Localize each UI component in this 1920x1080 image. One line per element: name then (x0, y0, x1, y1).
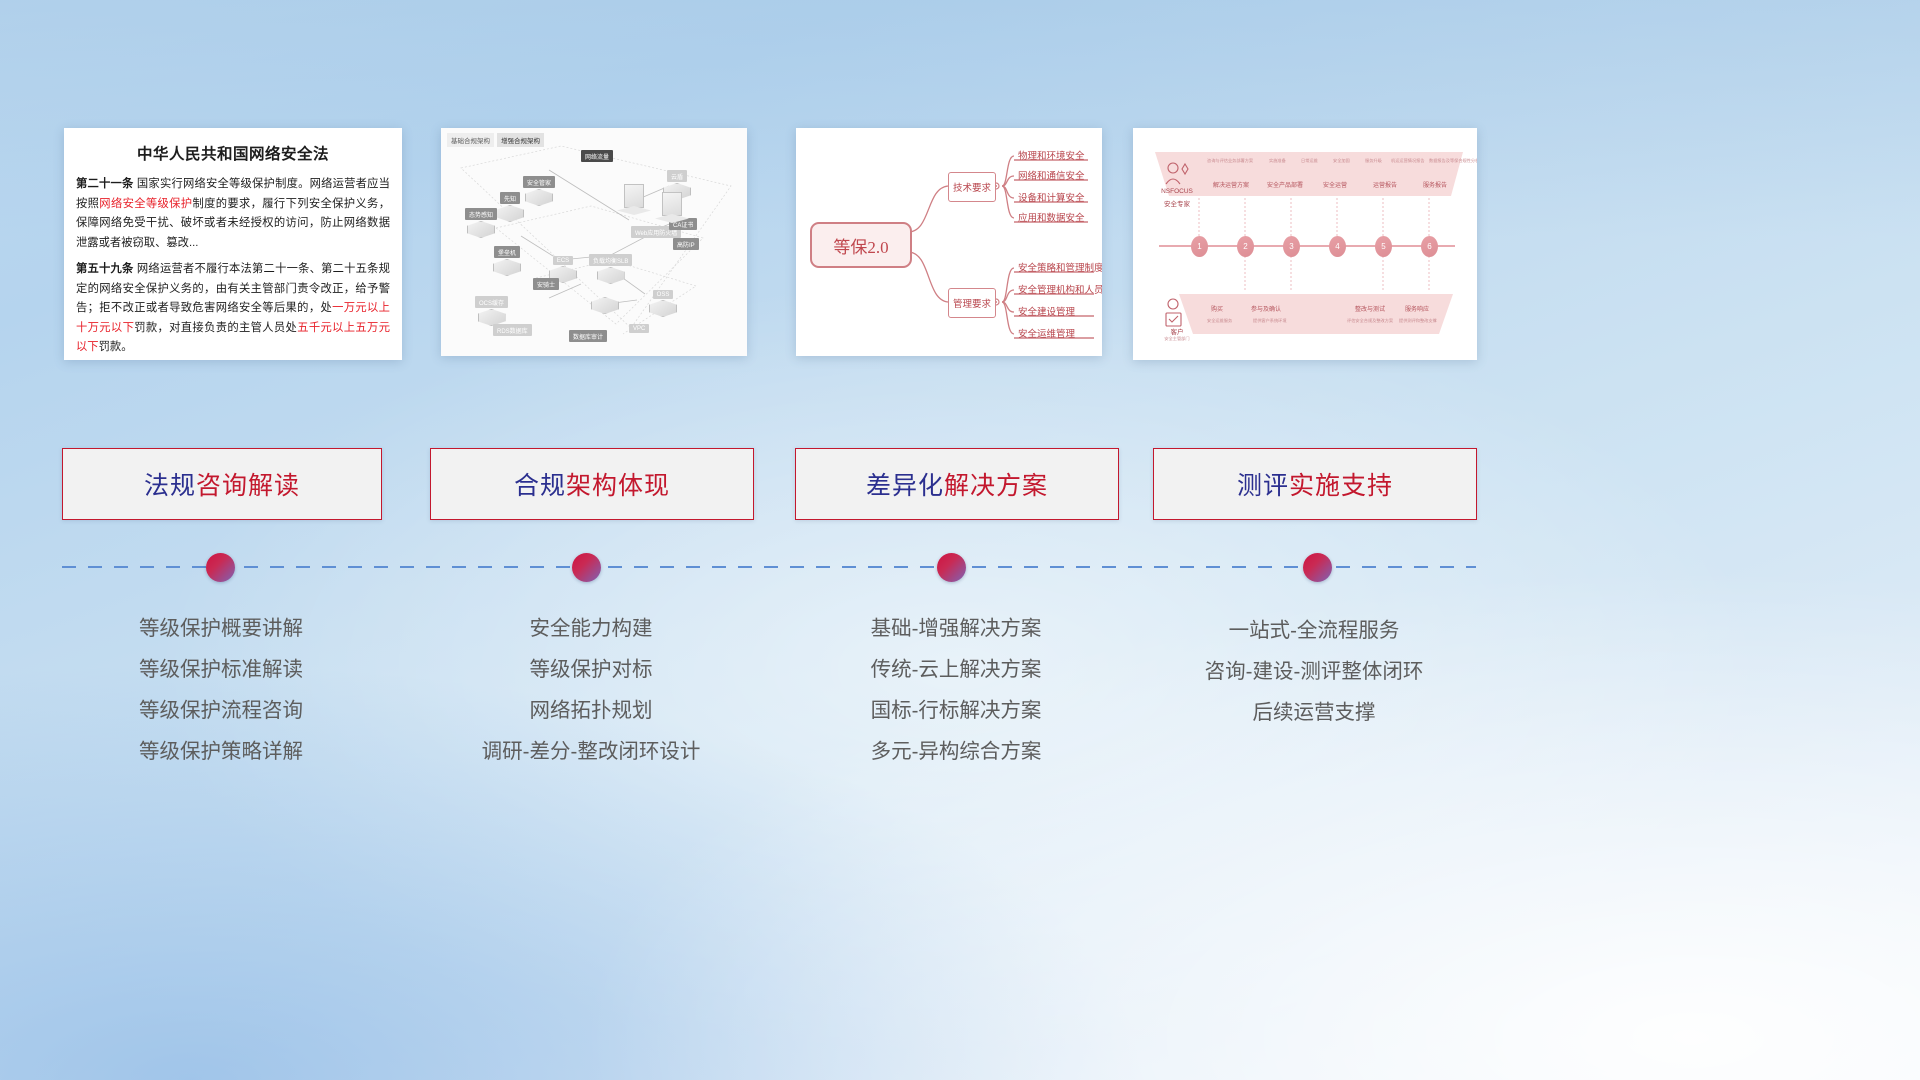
list-assessment-support: 一站式-全流程服务 咨询-建设-测评整体闭环 后续运营支撑 (1153, 610, 1475, 733)
timeline-bottom-step-1: 购买 (1211, 304, 1223, 313)
timeline-top-tiny-7: 数据报告及等保合规性分析与建议 (1429, 158, 1477, 164)
arch-cube-ecs-sg (591, 297, 619, 314)
timeline-number-4: 4 (1329, 236, 1346, 257)
list-item: 咨询-建设-测评整体闭环 (1153, 651, 1475, 692)
headline-1-accent: 咨询解读 (196, 472, 300, 500)
law-article-59-text-c: 罚款。 (99, 341, 133, 353)
arch-chip-anti-ddos: 高防IP (673, 238, 699, 250)
list-item: 等级保护概要讲解 (62, 608, 380, 649)
timeline-top-tiny-4: 安全加固 (1333, 158, 1350, 164)
arch-node-ocs-cache: OCS缓存 (475, 296, 508, 326)
slide-stage: 中华人民共和国网络安全法 第二十一条 国家实行网络安全等级保护制度。网络运营者应… (0, 0, 1920, 1080)
arch-chip-anqishi: 安骑士 (533, 278, 559, 290)
timeline-dot-4 (1303, 553, 1332, 582)
timeline-expert-role: 安全专家 (1155, 198, 1199, 208)
headline-text-2: 合规架构体现 (514, 466, 670, 502)
headline-box-assessment-support[interactable]: 测评实施支持 (1153, 448, 1477, 520)
timeline-top-tiny-5: 服务升级 (1365, 158, 1382, 164)
headline-box-regulation-consulting[interactable]: 法规咨询解读 (62, 448, 382, 520)
arch-server-network-protection (624, 184, 644, 208)
headline-text-3: 差异化解决方案 (866, 466, 1048, 502)
mindmap-leaf-physical-env: 物理和环境安全 (1018, 148, 1085, 162)
timeline-expert-brand: NSFOCUS (1155, 188, 1199, 195)
arch-node-network-protection (617, 184, 651, 215)
card-compliance-architecture: 基础合规架构 增强合规架构 (441, 128, 747, 356)
headline-2-accent: 架构体现 (566, 472, 670, 500)
list-item: 等级保护流程咨询 (62, 690, 380, 731)
list-item: 网络拓扑规划 (430, 690, 752, 731)
headline-text-4: 测评实施支持 (1237, 466, 1393, 502)
timeline-top-step-3: 安全运营 (1323, 180, 1347, 189)
arch-node-ecs-sg (591, 296, 619, 314)
headline-1-prefix: 法规 (144, 472, 196, 500)
timeline-top-tiny-2: 实施准备 (1269, 158, 1286, 164)
arch-node-traffic: 网络流量 (581, 150, 613, 162)
law-article-59-text-b: 罚款，对直接负责的主管人员处 (134, 322, 297, 334)
list-item: 等级保护标准解读 (62, 649, 380, 690)
arch-chip-situation-awareness: 态势感知 (465, 208, 497, 220)
timeline-bottom-tiny-1: 安全运维服务 (1207, 318, 1232, 324)
arch-chip-xianzhi: 先知 (500, 192, 520, 204)
timeline-bottom-step-2: 参与及确认 (1251, 304, 1281, 313)
list-item: 后续运营支撑 (1153, 692, 1475, 733)
timeline-dot-1 (206, 553, 235, 582)
arch-cube-oss (649, 300, 677, 317)
arch-chip-ocs-cache: OCS缓存 (475, 296, 508, 308)
headline-box-differentiated-solution[interactable]: 差异化解决方案 (795, 448, 1119, 520)
arch-cube-bastion (493, 259, 521, 276)
headline-2-prefix: 合规 (514, 472, 566, 500)
arch-node-anqishi: 安骑士 (533, 278, 559, 290)
timeline-top-step-4: 运营报告 (1373, 180, 1397, 189)
arch-node-rds: RDS数据库 (493, 324, 532, 336)
arch-chip-db-audit: 数据库审计 (569, 330, 607, 342)
timeline-top-tiny-1: 咨询与评估业务部署方案 (1207, 158, 1253, 164)
mindmap-leaf-ops-mgmt: 安全运维管理 (1018, 326, 1075, 340)
timeline-bottom-step-3: 整改与测试 (1355, 304, 1385, 313)
timeline-number-6: 6 (1421, 236, 1438, 257)
timeline-number-2: 2 (1237, 236, 1254, 257)
headline-text-1: 法规咨询解读 (144, 466, 300, 502)
timeline-number-1: 1 (1191, 236, 1208, 257)
arch-chip-traffic: 网络流量 (581, 150, 613, 162)
list-item: 一站式-全流程服务 (1153, 610, 1475, 651)
timeline-number-3: 3 (1283, 236, 1300, 257)
list-compliance-architecture: 安全能力构建 等级保护对标 网络拓扑规划 调研-差分-整改闭环设计 (430, 608, 752, 772)
timeline-top-step-5: 服务报告 (1423, 180, 1447, 189)
arch-node-vpc: VPC (629, 324, 649, 333)
arch-chip-bastion: 堡垒机 (494, 246, 520, 258)
list-item: 国标-行标解决方案 (795, 690, 1117, 731)
arch-node-security-manager: 安全管家 (523, 176, 555, 206)
arch-chip-rds: RDS数据库 (493, 324, 532, 336)
law-document: 中华人民共和国网络安全法 第二十一条 国家实行网络安全等级保护制度。网络运营者应… (64, 128, 402, 360)
arch-chip-ecs: ECS (553, 256, 573, 265)
timeline-bottom-tiny-4: 提供测评和整改支撑 (1399, 318, 1437, 324)
arch-chip-oss: OSS (653, 290, 674, 299)
headline-4-prefix: 测评 (1237, 472, 1289, 500)
arch-chip-slb: 负载均衡SLB (589, 254, 632, 266)
timeline-bottom-tiny-3: 评估安全合规及整改方案 (1347, 318, 1393, 324)
card-nsfocus-service-timeline: NSFOCUS 安全专家 客户 安全主管部门 解决运营方案 安全产品部署 安全运… (1133, 128, 1477, 360)
timeline-number-5: 5 (1375, 236, 1392, 257)
arch-node-anti-ddos: 高防IP (673, 238, 699, 250)
architecture-diagram: 基础合规架构 增强合规架构 (441, 128, 747, 356)
law-article-59: 第五十九条 网络运营者不履行本法第二十一条、第二十五条规定的网络安全保护义务的，… (76, 260, 390, 358)
list-item: 等级保护策略详解 (62, 731, 380, 772)
mindmap-leaf-policy-system: 安全策略和管理制度 (1018, 260, 1102, 274)
arch-cube-situation-awareness (467, 221, 495, 238)
mindmap-leaf-network-comm: 网络和通信安全 (1018, 168, 1085, 182)
list-differentiated-solution: 基础-增强解决方案 传统-云上解决方案 国标-行标解决方案 多元-异构综合方案 (795, 608, 1117, 772)
timeline-bottom-tiny-2: 提供客户系统环境 (1253, 318, 1287, 324)
mindmap-leaf-device-compute: 设备和计算安全 (1018, 190, 1085, 204)
law-article-21: 第二十一条 国家实行网络安全等级保护制度。网络运营者应当按照网络安全等级保护制度… (76, 175, 390, 253)
headline-4-accent: 实施支持 (1289, 472, 1393, 500)
law-article-21-label: 第二十一条 (76, 178, 134, 190)
mindmap-root: 等保2.0 (810, 222, 912, 268)
card-cybersecurity-law: 中华人民共和国网络安全法 第二十一条 国家实行网络安全等级保护制度。网络运营者应… (64, 128, 402, 360)
mindmap-branch-technical: 技术要求 (948, 172, 996, 202)
law-title: 中华人民共和国网络安全法 (76, 142, 390, 164)
list-item: 安全能力构建 (430, 608, 752, 649)
arch-server-pc-browser (662, 192, 682, 216)
law-article-59-label: 第五十九条 (76, 263, 134, 275)
mindmap-leaf-construction-mgmt: 安全建设管理 (1018, 304, 1075, 318)
list-item: 基础-增强解决方案 (795, 608, 1117, 649)
mindmap-branch-management: 管理要求 (948, 288, 996, 318)
arch-node-pc-browser (655, 192, 689, 223)
mindmap-leaf-app-data: 应用和数据安全 (1018, 210, 1085, 224)
mindmap-diagram: 等保2.0 技术要求 管理要求 物理和环境安全 网络和通信安全 设备和计算安全 … (796, 128, 1102, 356)
arch-node-bastion: 堡垒机 (493, 246, 521, 276)
timeline-bottom-step-4: 服务响应 (1405, 304, 1429, 313)
list-item: 等级保护对标 (430, 649, 752, 690)
arch-chip-cloud-shield: 云盾 (667, 170, 687, 182)
headline-box-compliance-architecture[interactable]: 合规架构体现 (430, 448, 754, 520)
arch-plate-pc-browser (655, 214, 689, 223)
arch-node-db-audit: 数据库审计 (569, 330, 607, 342)
arch-node-situation-awareness: 态势感知 (465, 208, 497, 238)
arch-node-xianzhi: 先知 (496, 192, 524, 222)
timeline-customer-role: 客户 (1155, 326, 1199, 336)
list-item: 调研-差分-整改闭环设计 (430, 731, 752, 772)
arch-chip-security-manager: 安全管家 (523, 176, 555, 188)
arch-cube-security-manager (525, 189, 553, 206)
timeline-customer-sub: 安全主管部门 (1151, 336, 1203, 342)
mindmap-leaf-org-personnel: 安全管理机构和人员 (1018, 282, 1102, 296)
list-regulation-consulting: 等级保护概要讲解 等级保护标准解读 等级保护流程咨询 等级保护策略详解 (62, 608, 380, 772)
headline-3-accent: 解决方案 (944, 472, 1048, 500)
headline-3-prefix: 差异化 (866, 472, 944, 500)
list-item: 传统-云上解决方案 (795, 649, 1117, 690)
arch-node-slb: 负载均衡SLB (589, 254, 632, 284)
timeline-top-tiny-3: 日常运维 (1301, 158, 1318, 164)
timeline-dashed-line (62, 566, 1476, 568)
timeline-dot-2 (572, 553, 601, 582)
arch-cube-xianzhi (496, 205, 524, 222)
arch-cube-slb (597, 267, 625, 284)
service-timeline-diagram: NSFOCUS 安全专家 客户 安全主管部门 解决运营方案 安全产品部署 安全运… (1133, 128, 1477, 360)
timeline-top-step-2: 安全产品部署 (1267, 180, 1303, 189)
timeline-dot-3 (937, 553, 966, 582)
arch-plate-network-protection (617, 206, 651, 215)
arch-node-oss: OSS (649, 290, 677, 317)
arch-chip-vpc: VPC (629, 324, 649, 333)
timeline-top-tiny-6: 机运运营情况报告 (1391, 158, 1425, 164)
card-dengbao-mindmap: 等保2.0 技术要求 管理要求 物理和环境安全 网络和通信安全 设备和计算安全 … (796, 128, 1102, 356)
law-article-21-highlight: 网络安全等级保护 (99, 198, 192, 210)
timeline-top-step-1: 解决运营方案 (1213, 180, 1249, 189)
list-item: 多元-异构综合方案 (795, 731, 1117, 772)
